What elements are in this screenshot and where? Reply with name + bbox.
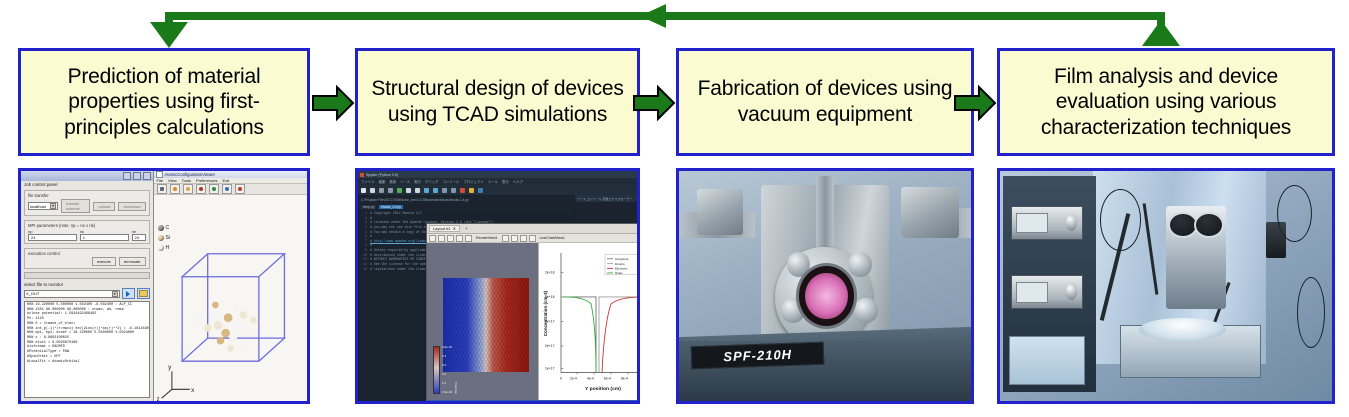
close-icon[interactable]: ✕ (453, 226, 456, 231)
menu-tools[interactable]: ツール (488, 179, 498, 184)
x-tick-label: 2e-4 (570, 376, 577, 380)
y-tick-label: 1e+17 (545, 367, 555, 371)
stop-icon[interactable] (460, 188, 465, 193)
play-icon[interactable] (122, 288, 135, 299)
colorbar-tick: 0.1 (442, 382, 452, 385)
menu-search[interactable]: 検索 (389, 179, 396, 184)
stage-2-screenshot-panel[interactable]: Spyder (Python 3.9) ファイル 編集 検索 ソース 実行 デバ… (355, 168, 640, 404)
colorbar-gradient (433, 346, 440, 394)
concentration-profile-chart: 2e+18 1e+18 5e+17 2e+17 1e+17 0 2e-4 4e-… (539, 243, 637, 400)
arrow-stage2-to-stage3 (632, 84, 676, 122)
instrument-display (1016, 282, 1048, 303)
viewer-toolbar[interactable] (154, 184, 307, 195)
menu-preferences[interactable]: Preferences (196, 178, 218, 183)
arrow-stage3-to-stage4 (953, 84, 997, 122)
cable-loop (1100, 189, 1142, 251)
atomic-structure-viewport[interactable]: C Si H (154, 195, 307, 404)
spyder-menubar[interactable]: ファイル 編集 検索 ソース 実行 デバッグ コンソール プロジェクト ツール … (358, 178, 637, 185)
menu-console[interactable]: コンソール (442, 179, 459, 184)
wafer-chuck (1139, 318, 1225, 341)
file-transfer-group: file transfer localhost ▾ transfer schem… (24, 190, 150, 216)
paraview-layout-tabs[interactable]: Layout #1 ✕ + (427, 224, 637, 234)
stereo-microscope (1166, 206, 1226, 310)
colorbar-title: Potential (454, 382, 458, 394)
split-vertical-icon[interactable] (438, 235, 445, 242)
bond-green-icon[interactable] (209, 184, 219, 194)
flange-bolt (854, 298, 877, 323)
legend-label: Holes (615, 271, 623, 275)
layout-tab-label: Layout #1 (433, 226, 451, 231)
colorbar-tick: 2.3e-02 (442, 391, 452, 394)
tab-blocks-py[interactable]: blocks_1.0.py (379, 205, 403, 209)
y-tick-label: 2e+18 (545, 270, 555, 274)
paraview-view-toolbar[interactable]: RenderView1 LineChartView1 (427, 234, 637, 243)
execution-caption: execution control (28, 251, 146, 256)
x-tick-label: 4e-4 (587, 376, 594, 380)
close-icon[interactable] (143, 172, 151, 180)
paraview-render-view[interactable]: 4.8e-01 0.4 0.3 0.2 0.1 2.3e-02 Potentia… (427, 243, 538, 400)
menu-view[interactable]: View (168, 178, 177, 183)
search-icon[interactable] (465, 235, 472, 242)
step-into-icon[interactable] (442, 188, 447, 193)
stage-3-photo-panel[interactable]: SPF-210H (676, 168, 974, 404)
right-dock-title: ソース コンソール 変数エクスプローラー (577, 197, 632, 201)
colorbar-tick: 0.4 (442, 355, 452, 358)
stage-4-label: Film analysis and device evaluation usin… (1000, 64, 1332, 141)
legend-label: Electrons (615, 267, 628, 271)
code-line: # limitations under the License. (370, 267, 431, 272)
split-icon[interactable] (520, 235, 527, 242)
monitor-file-select[interactable]: X_OUT ▾ (24, 290, 120, 298)
transfer-scheme-button[interactable]: transfer scheme (61, 199, 90, 213)
job-control-window[interactable]: Job control panel file transfer localhos… (21, 171, 154, 401)
legend-label-si: Si (166, 235, 170, 241)
render-view-name: RenderView1 (476, 236, 498, 240)
line-chart-view-name: LineChartView1 (540, 236, 565, 240)
step-over-icon[interactable] (433, 188, 438, 193)
plasma-glow (805, 273, 847, 318)
equipment-nameplate: SPF-210H (690, 341, 824, 368)
save-all-icon[interactable] (388, 188, 393, 193)
file-transfer-caption: file transfer (28, 193, 146, 198)
menu-file[interactable]: File (157, 178, 163, 183)
instrument-knob (1066, 214, 1077, 231)
stage-1-label: Prediction of material properties using … (21, 64, 307, 141)
mpi-caption: MPI parameters (note: np = ne x nk) (28, 223, 146, 228)
equipment-model-label: SPF-210H (723, 346, 792, 363)
axis-label-z: z (156, 396, 159, 403)
legend-item-h: H (158, 245, 170, 251)
menu-source[interactable]: ソース (400, 179, 410, 184)
vacuum-chamber-photo: SPF-210H (679, 171, 971, 401)
cable-loop (1297, 277, 1326, 348)
chamber-viewport (796, 263, 857, 329)
unit-cell-render: x y z (154, 195, 307, 404)
flange-bolt (848, 252, 871, 277)
spyder-titlebar: Spyder (Python 3.9) (358, 171, 637, 178)
legend-item-si: Si (158, 235, 170, 241)
wrench-icon[interactable] (469, 188, 474, 193)
split-horizontal-icon[interactable] (429, 235, 436, 242)
legend-label-c: C (166, 225, 170, 231)
menu-projects[interactable]: プロジェクト (463, 179, 483, 184)
job-window-titlebar (21, 171, 153, 181)
chart-legend: Acceptors Donors Electrons Holes (605, 255, 637, 275)
nk-input[interactable]: 1 (80, 234, 129, 241)
probe-station-photo (1000, 171, 1332, 401)
stage-3-column: Fabrication of devices using vacuum equi… (676, 0, 974, 417)
top-feedthrough (816, 176, 834, 254)
paraview-window[interactable]: Layout #1 ✕ + RenderView1 (426, 223, 637, 401)
arrow-stage1-to-stage2 (311, 84, 355, 122)
run-cell-icon[interactable] (406, 188, 411, 193)
run-icon[interactable] (397, 188, 402, 193)
atom-orange-icon[interactable] (170, 184, 180, 194)
camera-icon[interactable] (456, 235, 463, 242)
y-tick-label: 2e+17 (545, 344, 555, 348)
stage-4-column: Film analysis and device evaluation usin… (997, 0, 1335, 417)
x-tick-label: 8e-4 (621, 376, 628, 380)
spyder-app-icon (360, 173, 364, 177)
stage-2-box[interactable]: Structural design of devices using TCAD … (355, 48, 640, 156)
element-legend: C Si H (158, 225, 170, 255)
colorbar-tick: 4.8e-01 (442, 346, 452, 349)
x-axis-label: Y position (cm) (585, 386, 621, 392)
layout-tab[interactable]: Layout #1 ✕ (429, 225, 460, 232)
stage-4-photo-panel[interactable] (997, 168, 1335, 404)
code-line: # Copyright 2012 Sandia LLC (370, 211, 422, 216)
monitor-section: select file to monitor X_OUT ▾ (24, 282, 150, 300)
stage-3-box[interactable]: Fabrication of devices using vacuum equi… (676, 48, 974, 156)
menu-file[interactable]: ファイル (361, 179, 375, 184)
menu-help[interactable]: ヘルプ (513, 179, 523, 184)
x-tick-label: 0 (560, 376, 562, 380)
colorbar-tick: 0.2 (442, 373, 452, 376)
x-tick-label: 6e-4 (604, 376, 611, 380)
save-icon[interactable] (379, 188, 384, 193)
download-button[interactable]: download (118, 202, 145, 211)
folder-icon[interactable] (137, 288, 150, 299)
job-console-output[interactable]: %%% 16.220000 5.500000 1.502400 -6.50240… (24, 301, 150, 398)
atom-yellow-icon[interactable] (183, 184, 193, 194)
maximize-view-icon[interactable] (447, 235, 454, 242)
python-icon[interactable] (478, 188, 483, 193)
legend-item-c: C (158, 225, 170, 231)
source-meter-top (1011, 206, 1084, 240)
menu-exit[interactable]: Exit (223, 178, 230, 183)
atomic-configuration-viewer-window[interactable]: AtomicConfigurationViewer File View Tool… (154, 171, 307, 401)
maximize-icon[interactable] (133, 172, 141, 180)
paraview-statusbar: paraview.simple（ParaView 5.10.1）ready (427, 400, 637, 401)
potential-colorbar: 4.8e-01 0.4 0.3 0.2 0.1 2.3e-02 Potentia… (433, 346, 458, 394)
host-select[interactable]: localhost ▾ (28, 202, 58, 210)
stage-4-box[interactable]: Film analysis and device evaluation usin… (997, 48, 1335, 156)
stage-2-column: Structural design of devices using TCAD … (355, 0, 640, 417)
menu-debug[interactable]: デバッグ (425, 179, 439, 184)
bond-red-icon[interactable] (196, 184, 206, 194)
axis-label-x: x (191, 387, 195, 394)
minimize-icon[interactable] (123, 172, 131, 180)
chevron-down-icon[interactable]: ▾ (50, 203, 56, 209)
y-axis-label: Concentration (cm-3) (543, 290, 548, 336)
chevron-down-icon[interactable]: ▾ (112, 291, 118, 297)
undo-icon[interactable] (502, 235, 509, 242)
workflow-diagram: Prediction of material properties using … (0, 0, 1349, 417)
atom-sphere-si (158, 235, 164, 241)
np-input[interactable]: 24 (28, 234, 77, 241)
mpi-parameters-group: MPI parameters (note: np = ne x nk) np 2… (24, 220, 150, 244)
tab-temp-py[interactable]: temp.py (361, 205, 376, 209)
atom-sphere-c (158, 225, 164, 231)
sample-tray (1009, 336, 1085, 386)
legend-label: Donors (615, 262, 625, 266)
close-view-icon[interactable] (529, 235, 536, 242)
execution-control-group: execution control execute terminate (24, 248, 150, 269)
debug-icon[interactable] (424, 188, 429, 193)
axis-label-y: y (168, 364, 172, 371)
settings-blue-icon[interactable] (222, 184, 232, 194)
run-selection-icon[interactable] (415, 188, 420, 193)
open-file-icon[interactable] (370, 188, 375, 193)
colorbar-tick: 0.3 (442, 364, 452, 367)
ne-input[interactable]: 24 (132, 234, 146, 241)
stage-1-column: Prediction of material properties using … (18, 0, 310, 417)
menu-tools[interactable]: Tools (182, 178, 191, 183)
reset-red-icon[interactable] (235, 184, 245, 194)
menu-view[interactable]: 表示 (502, 179, 509, 184)
spyder-title: Spyder (Python 3.9) (366, 173, 398, 177)
instrument-knob (1066, 283, 1077, 300)
microscope-eyepiece-right (1194, 212, 1224, 239)
cable-loop (1277, 185, 1312, 242)
stage-1-screenshot-panel[interactable]: Job control panel file transfer localhos… (18, 168, 310, 404)
step-out-icon[interactable] (451, 188, 456, 193)
plus-icon[interactable]: + (463, 226, 470, 231)
job-panel-title: Job control panel (21, 181, 153, 188)
stage-2-label: Structural design of devices using TCAD … (358, 76, 637, 127)
legend-label-h: H (166, 245, 170, 251)
new-file-icon[interactable] (361, 188, 366, 193)
menu-edit[interactable]: 編集 (379, 179, 386, 184)
window-icon (156, 171, 163, 178)
stage-1-box[interactable]: Prediction of material properties using … (18, 48, 310, 156)
upload-button[interactable]: upload (93, 202, 115, 211)
current-file-path: C:\Program Files\OCCViSM\doc\n_xml\1.4.2… (361, 198, 469, 202)
viewer-title: AtomicConfigurationViewer (165, 172, 215, 177)
horizontal-scrollbar[interactable] (24, 272, 150, 279)
monitor-file-value: X_OUT (26, 291, 39, 296)
execute-button[interactable]: execute (92, 257, 116, 266)
instrument-rack (1003, 176, 1096, 392)
redo-icon[interactable] (511, 235, 518, 242)
paraview-line-chart-view[interactable]: 2e+18 1e+18 5e+17 2e+17 1e+17 0 2e-4 4e-… (538, 243, 637, 400)
instrument-display (1016, 213, 1048, 234)
source-meter-bottom (1011, 275, 1084, 309)
left-port-flange (697, 189, 744, 235)
menu-run[interactable]: 実行 (414, 179, 421, 184)
console-line: #LocalFit = AtomicOrbital (27, 360, 147, 365)
terminate-button[interactable]: terminate (119, 257, 146, 266)
viewer-titlebar: AtomicConfigurationViewer (154, 171, 307, 178)
right-port-flange (901, 187, 959, 238)
host-value: localhost (30, 204, 46, 209)
stage-3-label: Fabrication of devices using vacuum equi… (679, 76, 971, 127)
document-icon[interactable] (157, 184, 167, 194)
atom-sphere-h (158, 245, 164, 251)
legend-label: Acceptors (615, 257, 629, 261)
